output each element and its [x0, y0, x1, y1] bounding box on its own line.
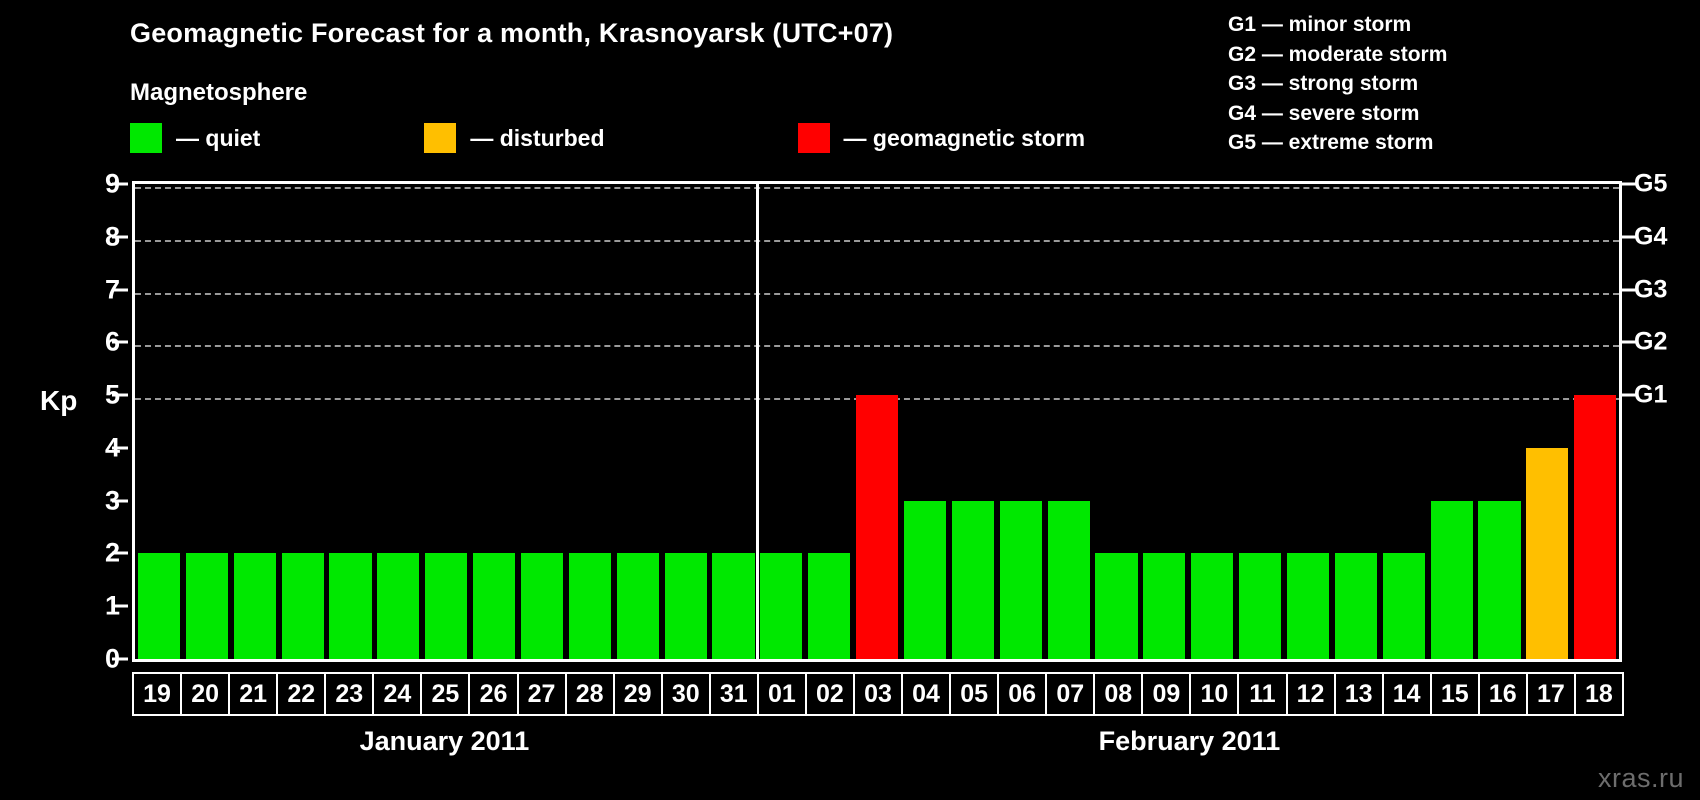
bar-cell[interactable]	[135, 184, 183, 659]
bar[interactable]	[1000, 501, 1042, 659]
bar[interactable]	[1431, 501, 1473, 659]
bar[interactable]	[1048, 501, 1090, 659]
bar-cell[interactable]	[997, 184, 1045, 659]
day-label[interactable]: 31	[709, 672, 759, 716]
bar-cell[interactable]	[1476, 184, 1524, 659]
bar[interactable]	[1478, 501, 1520, 659]
day-label[interactable]: 11	[1237, 672, 1287, 716]
storm-scale-row: G4 — severe storm	[1228, 99, 1447, 129]
bar-cell[interactable]	[279, 184, 327, 659]
bar-cell[interactable]	[327, 184, 375, 659]
magnetosphere-label: Magnetosphere	[130, 79, 307, 107]
y-tick-mark	[112, 552, 128, 555]
day-label[interactable]: 20	[180, 672, 230, 716]
bar-cell[interactable]	[566, 184, 614, 659]
g-tick-label: G3	[1634, 275, 1667, 304]
day-label[interactable]: 25	[420, 672, 470, 716]
bar[interactable]	[952, 501, 994, 659]
y-tick-label: 2	[60, 538, 120, 569]
storm-scale-row: G3 — strong storm	[1228, 69, 1447, 99]
bar[interactable]	[904, 501, 946, 659]
day-label[interactable]: 07	[1045, 672, 1095, 716]
day-label[interactable]: 01	[757, 672, 807, 716]
y-tick-mark	[112, 446, 128, 449]
storm-scale-legend: G1 — minor stormG2 — moderate stormG3 — …	[1228, 10, 1447, 158]
g-tick-mark	[1622, 235, 1636, 238]
bar-cell[interactable]	[1093, 184, 1141, 659]
bar-cell[interactable]	[1140, 184, 1188, 659]
page-title: Geomagnetic Forecast for a month, Krasno…	[130, 18, 893, 49]
day-label[interactable]: 19	[132, 672, 182, 716]
bar[interactable]	[329, 553, 371, 659]
bar-cell[interactable]	[183, 184, 231, 659]
g-tick-mark	[1622, 288, 1636, 291]
day-label[interactable]: 09	[1141, 672, 1191, 716]
g-tick-label: G4	[1634, 222, 1667, 251]
legend-item: — quiet	[130, 123, 260, 153]
y-tick-label: 0	[60, 644, 120, 675]
day-label[interactable]: 06	[997, 672, 1047, 716]
y-tick-label: 4	[60, 432, 120, 463]
bar[interactable]	[521, 553, 563, 659]
y-tick-mark	[112, 288, 128, 291]
storm-swatch	[798, 123, 830, 153]
day-label[interactable]: 22	[276, 672, 326, 716]
day-label[interactable]: 23	[324, 672, 374, 716]
bar-cell[interactable]	[901, 184, 949, 659]
bar[interactable]	[1335, 553, 1377, 659]
bar[interactable]	[665, 553, 707, 659]
legend-item: — geomagnetic storm	[798, 123, 1086, 153]
bar-cell[interactable]	[470, 184, 518, 659]
day-label[interactable]: 14	[1382, 672, 1432, 716]
g-axis-labels: G1G2G3G4G5	[1634, 181, 1694, 662]
bar[interactable]	[473, 553, 515, 659]
bar[interactable]	[760, 553, 802, 659]
day-label[interactable]: 29	[613, 672, 663, 716]
day-label[interactable]: 16	[1478, 672, 1528, 716]
legend-item: — disturbed	[424, 123, 604, 153]
day-label[interactable]: 02	[805, 672, 855, 716]
bar-cell[interactable]	[710, 184, 758, 659]
bar[interactable]	[234, 553, 276, 659]
day-label[interactable]: 08	[1093, 672, 1143, 716]
storm-scale-row: G1 — minor storm	[1228, 10, 1447, 40]
day-label[interactable]: 17	[1526, 672, 1576, 716]
bar-cell[interactable]	[374, 184, 422, 659]
y-tick-mark	[112, 341, 128, 344]
y-tick-label: 6	[60, 327, 120, 358]
y-tick-mark	[112, 605, 128, 608]
bar-cell[interactable]	[757, 184, 805, 659]
storm-scale-row: G5 — extreme storm	[1228, 128, 1447, 158]
day-label[interactable]: 10	[1189, 672, 1239, 716]
y-tick-mark	[112, 499, 128, 502]
y-tick-label: 7	[60, 274, 120, 305]
legend-label: — geomagnetic storm	[844, 125, 1086, 152]
day-label[interactable]: 21	[228, 672, 278, 716]
day-label[interactable]: 04	[901, 672, 951, 716]
g-tick-mark	[1622, 394, 1636, 397]
bar[interactable]	[1383, 553, 1425, 659]
bar-cell[interactable]	[1571, 184, 1619, 659]
month-label: January 2011	[294, 726, 594, 757]
bar-cell[interactable]	[1236, 184, 1284, 659]
legend-label: — quiet	[176, 125, 260, 152]
quiet-swatch	[130, 123, 162, 153]
y-tick-mark	[112, 235, 128, 238]
watermark: xras.ru	[1598, 763, 1684, 794]
bar[interactable]	[808, 553, 850, 659]
bar-cell[interactable]	[1045, 184, 1093, 659]
bar[interactable]	[856, 395, 898, 659]
bar-cell[interactable]	[1284, 184, 1332, 659]
chart-plot-area	[132, 181, 1622, 662]
g-tick-label: G5	[1634, 170, 1667, 199]
day-label[interactable]: 24	[372, 672, 422, 716]
bar[interactable]	[1526, 448, 1568, 659]
y-tick-label: 9	[60, 169, 120, 200]
y-tick-label: 8	[60, 221, 120, 252]
disturbed-swatch	[424, 123, 456, 153]
y-tick-label: 1	[60, 591, 120, 622]
bar-cell[interactable]	[1188, 184, 1236, 659]
month-label: February 2011	[1039, 726, 1339, 757]
bar[interactable]	[712, 553, 754, 659]
day-label[interactable]: 05	[949, 672, 999, 716]
g-tick-mark	[1622, 183, 1636, 186]
day-label[interactable]: 26	[468, 672, 518, 716]
bar-cell[interactable]	[853, 184, 901, 659]
day-label[interactable]: 28	[565, 672, 615, 716]
bar[interactable]	[282, 553, 324, 659]
day-label[interactable]: 13	[1334, 672, 1384, 716]
bar[interactable]	[569, 553, 611, 659]
y-tick-label: 5	[60, 380, 120, 411]
day-label[interactable]: 27	[517, 672, 567, 716]
bar-cell[interactable]	[1428, 184, 1476, 659]
bar-cell[interactable]	[422, 184, 470, 659]
bar[interactable]	[1239, 553, 1281, 659]
storm-scale-row: G2 — moderate storm	[1228, 40, 1447, 70]
bar[interactable]	[1574, 395, 1616, 659]
day-label[interactable]: 15	[1430, 672, 1480, 716]
day-label[interactable]: 18	[1574, 672, 1624, 716]
legend-label: — disturbed	[470, 125, 604, 152]
y-tick-label: 3	[60, 485, 120, 516]
bar[interactable]	[1287, 553, 1329, 659]
bar-cell[interactable]	[518, 184, 566, 659]
bar[interactable]	[138, 553, 180, 659]
bar-cell[interactable]	[805, 184, 853, 659]
y-tick-mark	[112, 394, 128, 397]
g-tick-mark	[1622, 341, 1636, 344]
day-label[interactable]: 03	[853, 672, 903, 716]
month-divider	[756, 181, 759, 662]
g-tick-label: G2	[1634, 328, 1667, 357]
bar-cell[interactable]	[1380, 184, 1428, 659]
bar-cell[interactable]	[231, 184, 279, 659]
bar-series	[135, 184, 1619, 659]
g-tick-label: G1	[1634, 381, 1667, 410]
bar[interactable]	[1095, 553, 1137, 659]
bar[interactable]	[1143, 553, 1185, 659]
bar-cell[interactable]	[949, 184, 997, 659]
day-label[interactable]: 12	[1286, 672, 1336, 716]
bar[interactable]	[617, 553, 659, 659]
day-axis: 1920212223242526272829303101020304050607…	[132, 672, 1622, 716]
bar-cell[interactable]	[614, 184, 662, 659]
day-label[interactable]: 30	[661, 672, 711, 716]
bar-cell[interactable]	[1332, 184, 1380, 659]
y-tick-mark	[112, 658, 128, 661]
bar[interactable]	[377, 553, 419, 659]
bar-cell[interactable]	[662, 184, 710, 659]
bar-cell[interactable]	[1523, 184, 1571, 659]
bar[interactable]	[1191, 553, 1233, 659]
y-axis-labels: 9876543210	[60, 181, 120, 662]
bar[interactable]	[425, 553, 467, 659]
y-tick-mark	[112, 183, 128, 186]
legend: — quiet— disturbed— geomagnetic storm	[130, 122, 1085, 154]
bar[interactable]	[186, 553, 228, 659]
